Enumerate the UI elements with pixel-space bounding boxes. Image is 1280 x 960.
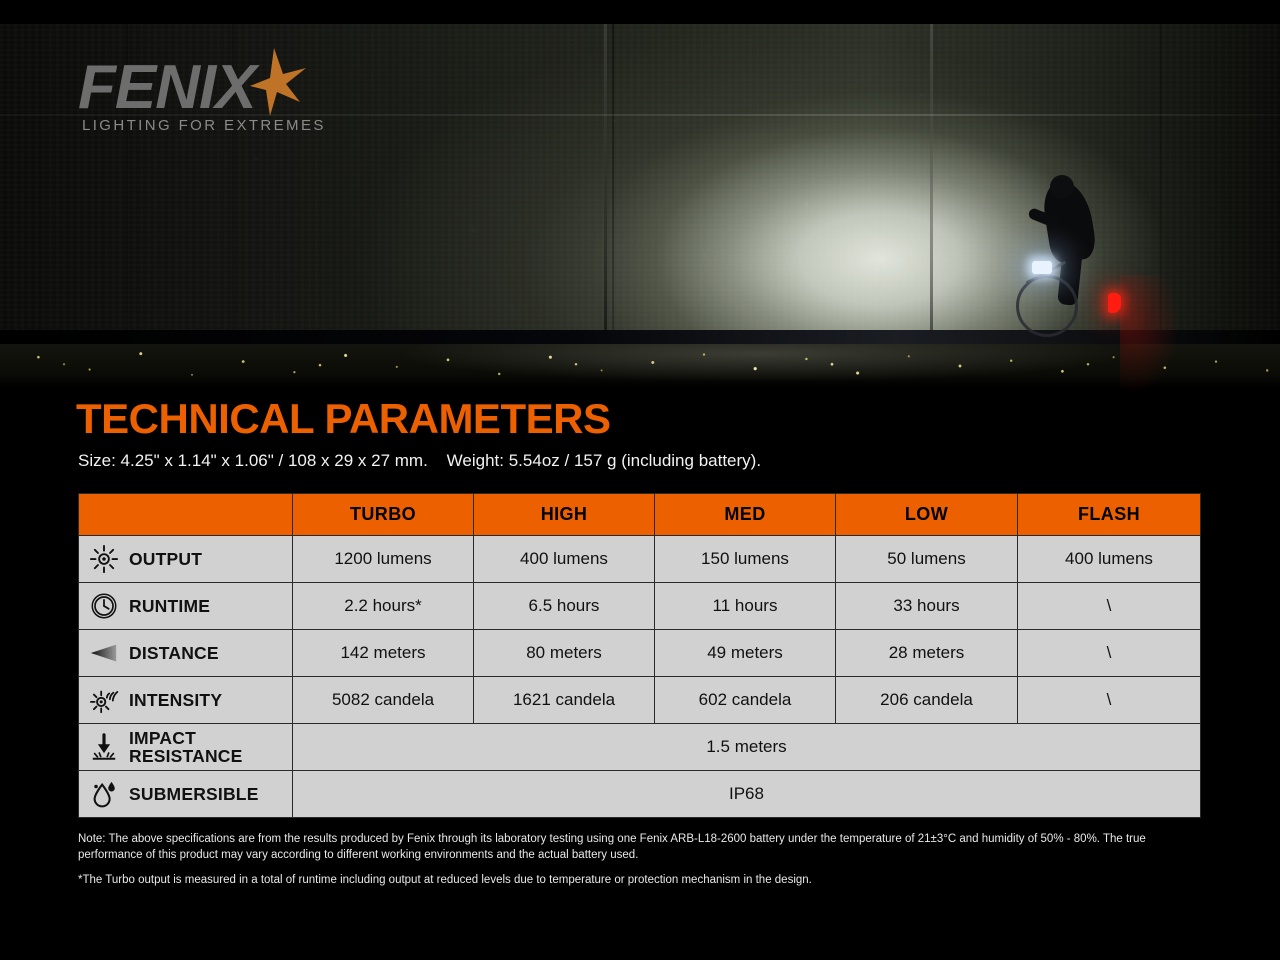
table-row: INTENSITY 5082 candela 1621 candela 602 … — [79, 677, 1201, 724]
cell-distance-med: 49 meters — [655, 630, 836, 677]
cell-intensity-high: 1621 candela — [474, 677, 655, 724]
cell-distance-flash: \ — [1018, 630, 1201, 677]
row-label-impact-resistance: IMPACT RESISTANCE — [79, 724, 293, 771]
fenix-logo-svg: FENIX LIGHTING FOR EXTREMES — [74, 44, 374, 136]
spec-table: TURBO HIGH MED LOW FLASH — [78, 493, 1201, 818]
cell-output-flash: 400 lumens — [1018, 536, 1201, 583]
row-label-text: RUNTIME — [129, 596, 210, 617]
cell-distance-low: 28 meters — [836, 630, 1018, 677]
clock-runtime-icon — [89, 591, 119, 621]
fenix-wordmark: FENIX — [78, 53, 260, 122]
page-root: FENIX LIGHTING FOR EXTREMES TECHNICAL PA… — [0, 0, 1280, 960]
table-row: IMPACT RESISTANCE 1.5 meters — [79, 724, 1201, 771]
cell-output-low: 50 lumens — [836, 536, 1018, 583]
sun-output-icon — [89, 544, 119, 574]
cell-runtime-med: 11 hours — [655, 583, 836, 630]
note-specifications: Note: The above specifications are from … — [78, 831, 1208, 864]
column-header-high: HIGH — [474, 494, 655, 536]
fenix-logo: FENIX LIGHTING FOR EXTREMES — [74, 44, 374, 136]
page-title: TECHNICAL PARAMETERS — [76, 398, 610, 440]
cell-distance-high: 80 meters — [474, 630, 655, 677]
arrow-impact-icon — [89, 732, 119, 762]
tail-light-icon — [1108, 293, 1121, 313]
cell-impact-resistance-value: 1.5 meters — [293, 724, 1201, 771]
beam-distance-icon — [89, 638, 119, 668]
row-label-runtime: RUNTIME — [79, 583, 293, 630]
row-label-distance: DISTANCE — [79, 630, 293, 677]
fenix-tagline: LIGHTING FOR EXTREMES — [82, 117, 326, 134]
hero-photo: FENIX LIGHTING FOR EXTREMES — [0, 0, 1280, 396]
cell-intensity-low: 206 candela — [836, 677, 1018, 724]
header-corner-cell — [79, 494, 293, 536]
gravel-texture — [0, 344, 1280, 388]
cell-output-turbo: 1200 lumens — [293, 536, 474, 583]
cell-runtime-high: 6.5 hours — [474, 583, 655, 630]
wall-joint — [604, 24, 607, 346]
cell-output-high: 400 lumens — [474, 536, 655, 583]
cell-runtime-flash: \ — [1018, 583, 1201, 630]
column-header-flash: FLASH — [1018, 494, 1201, 536]
row-label-text: SUBMERSIBLE — [129, 784, 259, 805]
cell-runtime-low: 33 hours — [836, 583, 1018, 630]
table-row: RUNTIME 2.2 hours* 6.5 hours 11 hours 33… — [79, 583, 1201, 630]
row-label-text-line2: RESISTANCE — [129, 746, 243, 766]
technical-parameters-table: TURBO HIGH MED LOW FLASH — [78, 493, 1200, 818]
row-label-text: OUTPUT — [129, 549, 202, 570]
column-header-turbo: TURBO — [293, 494, 474, 536]
row-label-submersible: SUBMERSIBLE — [79, 771, 293, 818]
cell-runtime-turbo: 2.2 hours* — [293, 583, 474, 630]
cell-distance-turbo: 142 meters — [293, 630, 474, 677]
cell-output-med: 150 lumens — [655, 536, 836, 583]
size-weight-line: Size: 4.25" x 1.14" x 1.06" / 108 x 29 x… — [78, 451, 761, 471]
bicycle-wheel — [1016, 275, 1078, 337]
cell-intensity-flash: \ — [1018, 677, 1201, 724]
cell-submersible-value: IP68 — [293, 771, 1201, 818]
row-label-text: INTENSITY — [129, 690, 222, 711]
sun-rays-intensity-icon — [89, 685, 119, 715]
table-row: DISTANCE 142 meters 80 meters 49 meters … — [79, 630, 1201, 677]
column-header-low: LOW — [836, 494, 1018, 536]
cyclist-silhouette — [1020, 175, 1180, 345]
table-row: SUBMERSIBLE IP68 — [79, 771, 1201, 818]
bike-light-icon — [1032, 261, 1052, 274]
taillight-glow — [1120, 275, 1180, 395]
row-label-text-line1: IMPACT — [129, 728, 196, 748]
note-turbo-asterisk: *The Turbo output is measured in a total… — [78, 874, 1208, 886]
row-label-intensity: INTENSITY — [79, 677, 293, 724]
wall-joint — [930, 24, 933, 346]
table-header-row: TURBO HIGH MED LOW FLASH — [79, 494, 1201, 536]
footnotes: Note: The above specifications are from … — [78, 831, 1208, 886]
water-drop-icon — [89, 779, 119, 809]
cell-intensity-med: 602 candela — [655, 677, 836, 724]
cell-intensity-turbo: 5082 candela — [293, 677, 474, 724]
row-label-text: DISTANCE — [129, 643, 219, 664]
gravel-ground — [0, 344, 1280, 388]
wall-joint — [612, 24, 614, 346]
column-header-med: MED — [655, 494, 836, 536]
row-label-output: OUTPUT — [79, 536, 293, 583]
star-icon — [250, 48, 306, 116]
rider-head — [1050, 175, 1074, 199]
table-row: OUTPUT 1200 lumens 400 lumens 150 lumens… — [79, 536, 1201, 583]
